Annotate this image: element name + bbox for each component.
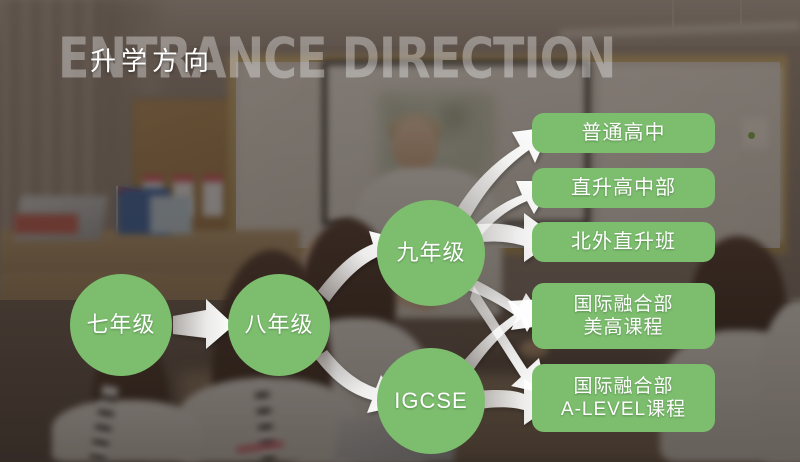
flow-outcome-meigao-line1: 国际融合部 [573,293,673,316]
slide-canvas: ENTRANCE DIRECTION 升学方向 [0,0,800,462]
flow-outcome-beiwai[interactable]: 北外直升班 [532,222,715,262]
flow-node-grade7[interactable]: 七年级 [70,274,172,376]
flow-node-grade8[interactable]: 八年级 [228,274,330,376]
flow-node-grade9[interactable]: 九年级 [377,200,485,306]
flow-node-igcse[interactable]: IGCSE [377,348,485,454]
flow-outcome-alevel[interactable]: 国际融合部 A-LEVEL课程 [532,364,715,432]
flow-node-igcse-label: IGCSE [394,388,467,415]
flow-outcome-meigao[interactable]: 国际融合部 美高课程 [532,283,715,349]
arrow-grade7-grade8 [173,299,234,349]
flowchart: 七年级 八年级 九年级 IGCSE 普通高中 直升高中部 北外直升班 国际融合部… [0,0,800,462]
flow-outcome-putong[interactable]: 普通高中 [532,113,715,153]
flow-outcome-alevel-line2: A-LEVEL课程 [561,398,686,421]
flow-node-grade7-label: 七年级 [86,312,155,339]
flow-outcome-zhisheng[interactable]: 直升高中部 [532,168,715,208]
flow-outcome-beiwai-label: 北外直升班 [571,230,676,254]
flow-outcome-putong-label: 普通高中 [582,121,666,145]
flow-outcome-alevel-line1: 国际融合部 [573,375,673,398]
flow-outcome-zhisheng-label: 直升高中部 [571,176,676,200]
flow-outcome-meigao-line2: 美高课程 [583,316,663,339]
flow-node-grade9-label: 九年级 [396,240,465,267]
flow-node-grade8-label: 八年级 [244,312,313,339]
